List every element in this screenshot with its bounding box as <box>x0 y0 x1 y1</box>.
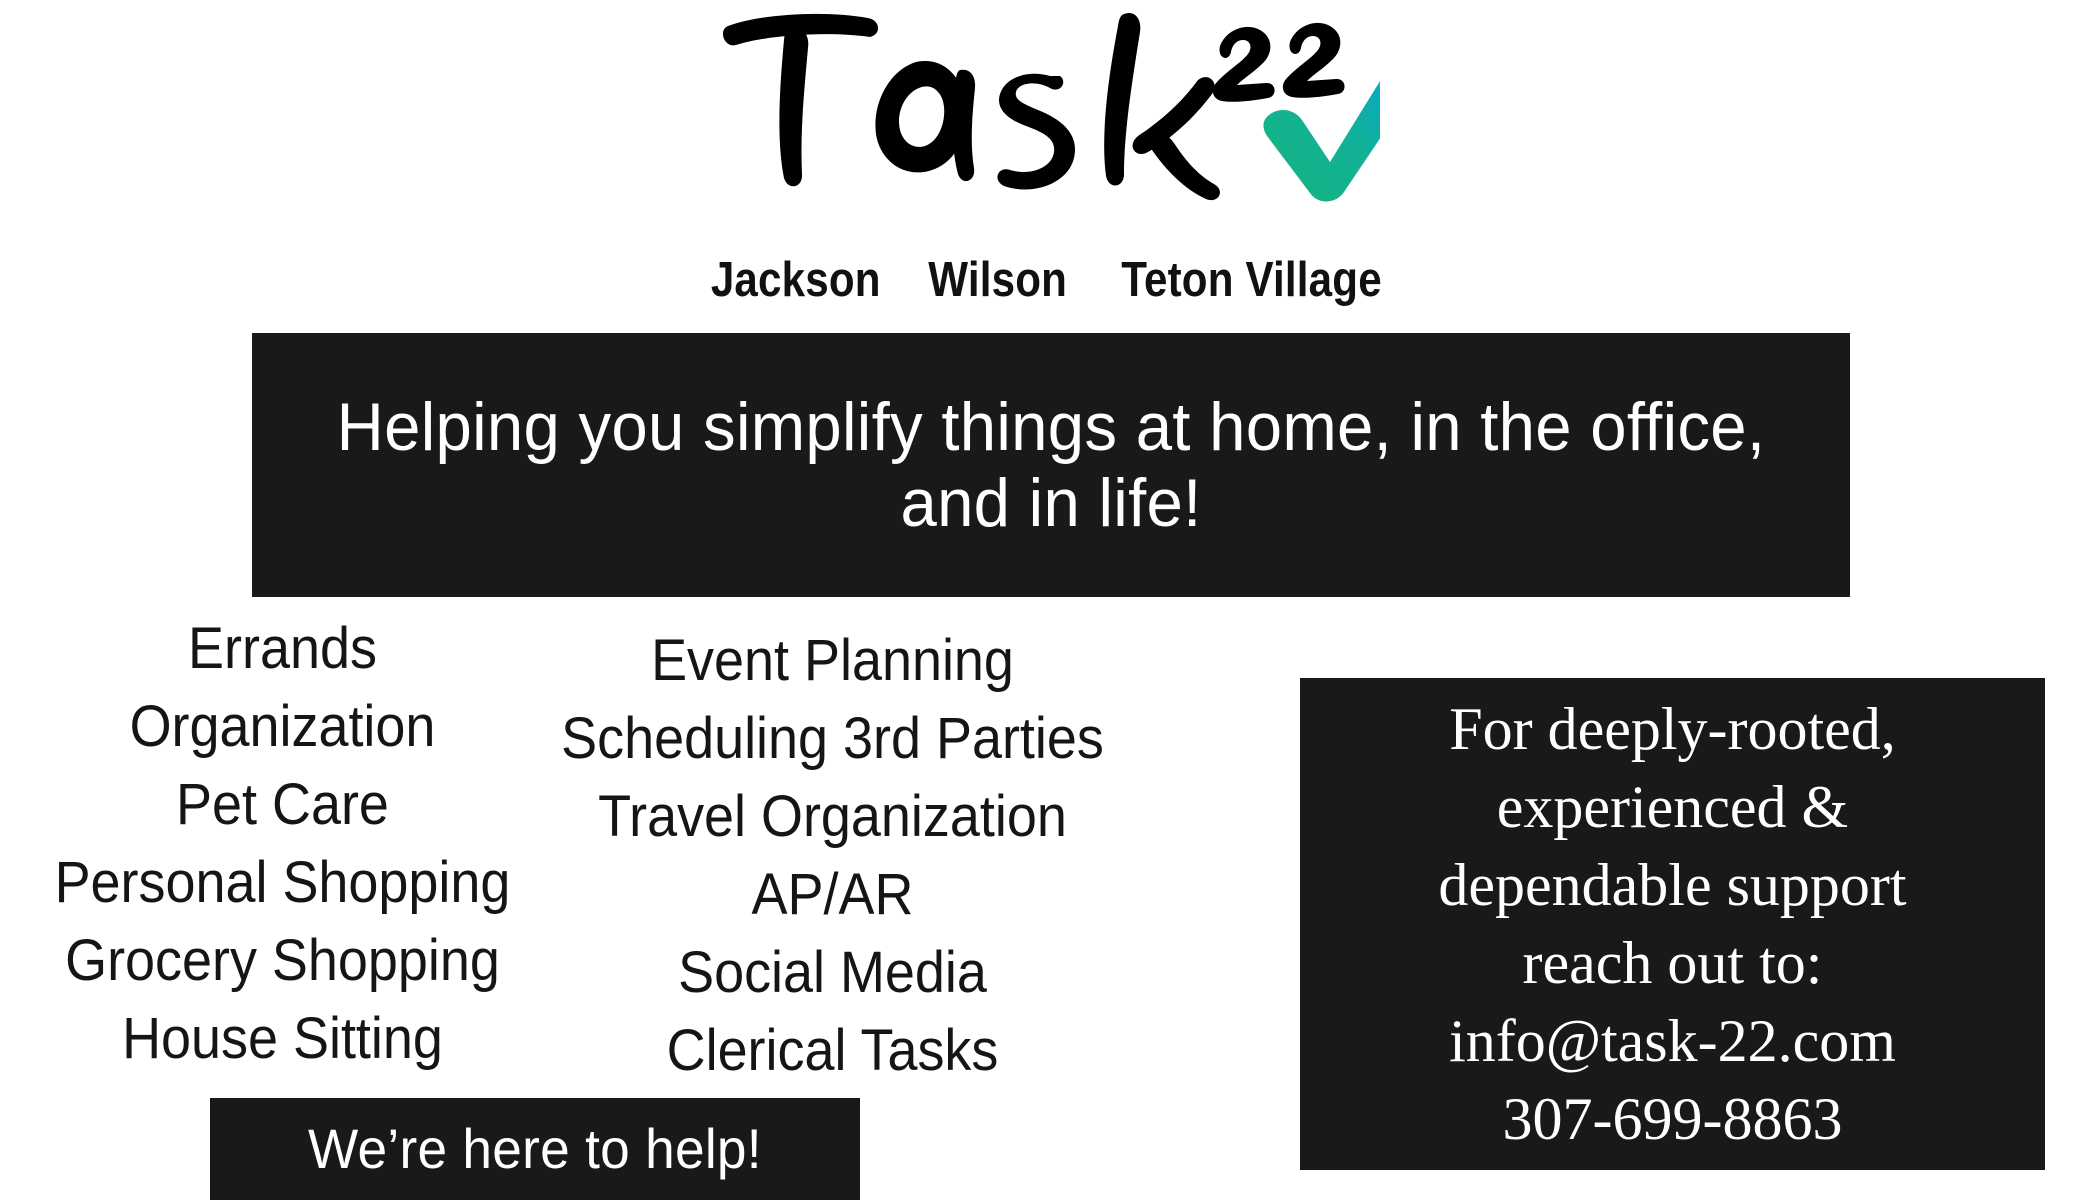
service-item: Organization <box>20 688 545 766</box>
contact-email[interactable]: info@task-22.com <box>1322 1002 2023 1080</box>
brand-logo <box>0 0 2100 250</box>
tagline-text: Helping you simplify things at home, in … <box>332 389 1770 541</box>
service-item: Pet Care <box>20 766 545 844</box>
service-item: Clerical Tasks <box>528 1012 1137 1090</box>
wordmark-task-glyphs <box>723 13 1220 200</box>
tagline-banner: Helping you simplify things at home, in … <box>252 333 1850 597</box>
service-item: Social Media <box>528 934 1137 1012</box>
help-banner-text: We’re here to help! <box>308 1121 762 1177</box>
services-lists: Errands Organization Pet Care Personal S… <box>0 610 1200 1080</box>
service-item: Grocery Shopping <box>20 922 545 1000</box>
location-teton-village: Teton Village <box>1121 256 1382 305</box>
logo-artwork <box>720 4 1380 204</box>
service-item: Event Planning <box>528 622 1137 700</box>
service-item: Personal Shopping <box>20 844 545 922</box>
contact-phone[interactable]: 307-699-8863 <box>1322 1080 2023 1158</box>
location-jackson: Jackson <box>711 256 881 305</box>
locations-line: JacksonWilsonTeton Village <box>0 256 2100 305</box>
services-column-left: Errands Organization Pet Care Personal S… <box>0 610 565 1078</box>
service-item: AP/AR <box>528 856 1137 934</box>
service-item: Scheduling 3rd Parties <box>528 700 1137 778</box>
service-item: Travel Organization <box>528 778 1137 856</box>
location-wilson: Wilson <box>928 256 1067 305</box>
service-item: House Sitting <box>20 1000 545 1078</box>
contact-box: For deeply-rooted, experienced & dependa… <box>1300 678 2045 1170</box>
help-banner: We’re here to help! <box>210 1098 860 1200</box>
contact-line: dependable support <box>1322 846 2023 924</box>
contact-line: experienced & <box>1322 768 2023 846</box>
service-item: Errands <box>20 610 545 688</box>
logo-superscript-22 <box>1213 23 1345 102</box>
contact-line: reach out to: <box>1322 924 2023 1002</box>
contact-line: For deeply-rooted, <box>1322 690 2023 768</box>
flyer-page: JacksonWilsonTeton Village Helping you s… <box>0 0 2100 1200</box>
services-column-middle: Event Planning Scheduling 3rd Parties Tr… <box>505 622 1160 1090</box>
